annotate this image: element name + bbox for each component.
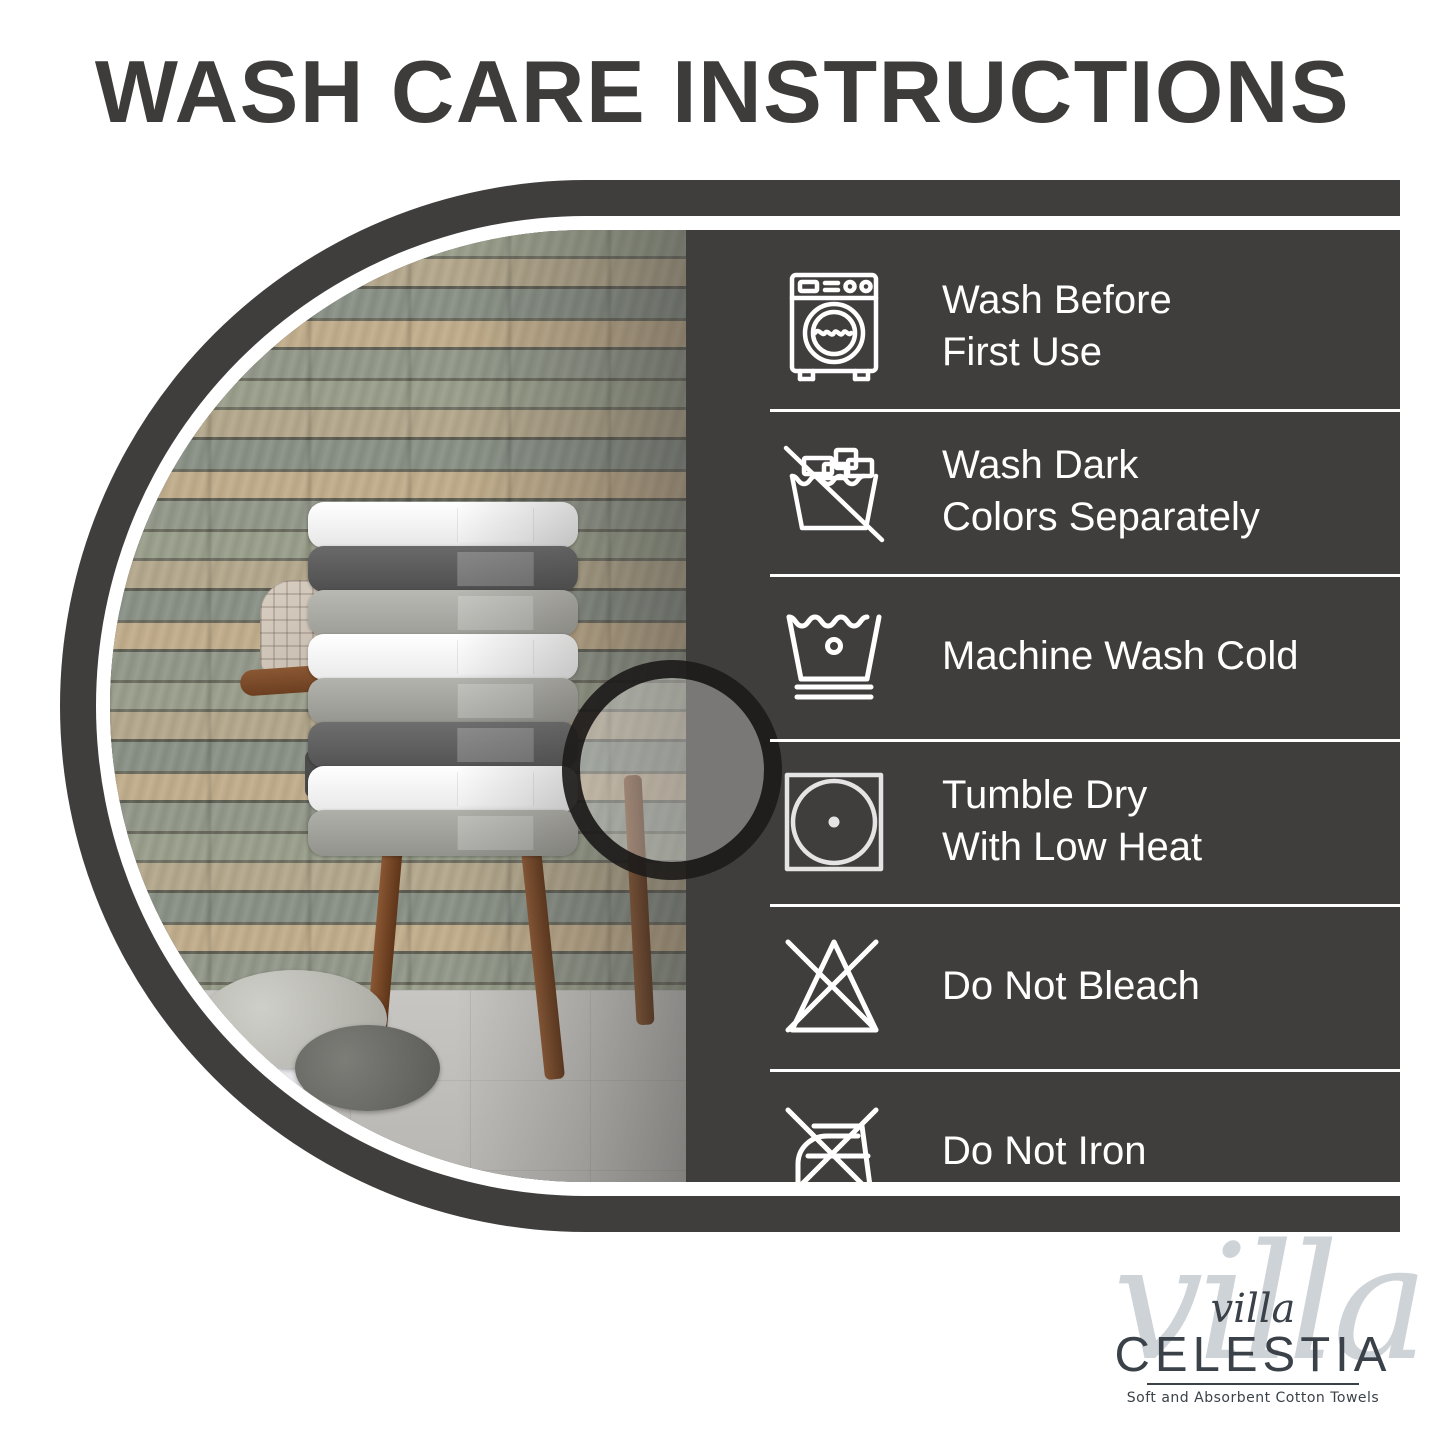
- folded-towel: [308, 722, 578, 768]
- care-label: Do Not Iron: [942, 1126, 1147, 1177]
- folded-towel: [308, 810, 578, 856]
- folded-towel: [308, 590, 578, 636]
- logo-script-villa: villa: [1103, 1289, 1403, 1329]
- washing-machine-icon: [770, 271, 898, 383]
- panel-photo-window: Wash Before First Use Wash Dark Colors: [110, 230, 1400, 1182]
- care-label: Tumble Dry With Low Heat: [942, 770, 1202, 872]
- care-row-tumble-dry-low-heat[interactable]: Tumble Dry With Low Heat: [770, 739, 1400, 904]
- care-panel: Wash Before First Use Wash Dark Colors: [60, 180, 1400, 1232]
- circle-accent-overlay: [562, 660, 782, 880]
- folded-towel: [308, 502, 578, 548]
- care-row-wash-before-first-use[interactable]: Wash Before First Use: [770, 244, 1400, 409]
- care-row-do-not-bleach[interactable]: Do Not Bleach: [770, 904, 1400, 1069]
- care-label: Wash Before First Use: [942, 275, 1172, 377]
- care-row-wash-dark-colors-separately[interactable]: Wash Dark Colors Separately: [770, 409, 1400, 574]
- instruction-list: Wash Before First Use Wash Dark Colors: [770, 244, 1400, 1182]
- wash-tub-cold-icon: [770, 609, 898, 705]
- folded-towel: [308, 634, 578, 680]
- care-row-machine-wash-cold[interactable]: Machine Wash Cold: [770, 574, 1400, 739]
- folded-towel: [308, 766, 578, 812]
- page-title: WASH CARE INSTRUCTIONS: [0, 44, 1445, 141]
- care-label: Machine Wash Cold: [942, 631, 1298, 682]
- folded-towel: [308, 546, 578, 592]
- logo-tagline: Soft and Absorbent Cotton Towels: [1103, 1389, 1403, 1407]
- brand-logo: villa villa CELESTIA Soft and Absorbent …: [1103, 1231, 1403, 1421]
- logo-divider-rule: [1147, 1383, 1359, 1385]
- logo-wordmark-celestia: CELESTIA: [1103, 1331, 1403, 1380]
- do-not-iron-icon: [770, 1098, 898, 1183]
- care-row-do-not-iron[interactable]: Do Not Iron: [770, 1069, 1400, 1182]
- tumble-dry-low-heat-icon: [770, 769, 898, 875]
- rolled-towel: [295, 1025, 440, 1111]
- care-label: Wash Dark Colors Separately: [942, 440, 1260, 542]
- do-not-bleach-icon: [770, 932, 898, 1042]
- no-mixed-laundry-basket-icon: [770, 436, 898, 548]
- care-label: Do Not Bleach: [942, 961, 1200, 1012]
- folded-towel: [308, 678, 578, 724]
